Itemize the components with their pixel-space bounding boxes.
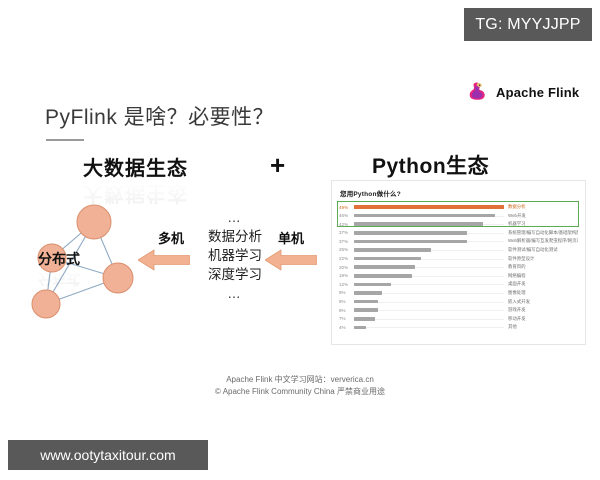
chart-row: 9%图像处理 [339,289,578,297]
list-item: 深度学习 [200,265,270,284]
chart-row-baseline [354,327,504,328]
chart-bar [354,291,382,295]
chart-row-track [354,272,504,280]
chart-row: 8%游戏开发 [339,306,578,314]
chart-bar [354,205,504,209]
chart-bar [354,326,366,330]
chart-row: 19%网络编程 [339,272,578,280]
tg-watermark-badge: TG: MYYJJPP [464,8,592,41]
cluster-node [103,263,133,293]
chart-row: 22%软件原型设计 [339,255,578,263]
chart-row: 37%系统管理/编写自动化脚本/基础架构配置（DevOps） [339,229,578,237]
chart-row-label: 游戏开发 [504,307,578,313]
chart-bar [354,231,467,235]
chart-bar [354,300,378,304]
chart-row: 4%其他 [339,323,578,331]
title-underline-rule [46,139,84,141]
apache-flink-squirrel-icon [466,80,490,104]
chart-row-track [354,229,504,237]
chart-row-value: 37% [339,230,354,235]
chart-row-track [354,220,504,228]
chart-row-label: 网络编程 [504,273,578,279]
chart-row-value: 8% [339,308,354,313]
chart-bar [354,240,467,244]
chart-row-label: Web解析器/编写互发爬虫程序/网页内容的取程序编程 [504,238,578,244]
chart-row-label: 图像处理 [504,290,578,296]
list-item: … [200,208,270,227]
chart-row-track [354,323,504,331]
chart-row-track [354,255,504,263]
chart-row-label: 桌面开发 [504,281,578,287]
apache-flink-wordmark: Apache Flink [496,85,579,100]
heading-python-text: Python生态 [372,155,489,178]
workload-list: … 数据分析 机器学习 深度学习 … [200,208,270,303]
footer-line-2: © Apache Flink Community China 严禁商业用途 [0,386,600,398]
chart-row-track [354,280,504,288]
chart-bar [354,265,415,269]
chart-bar [354,317,375,321]
chart-row-track [354,263,504,271]
chart-row-label: 移动开发 [504,316,578,322]
chart-row-track [354,306,504,314]
chart-title: 您用Python做什么? [340,188,578,198]
chart-row: 20%教育目的 [339,263,578,271]
chart-row-label: Web开发 [504,213,578,219]
chart-row-label: 软件原型设计 [504,256,578,262]
chart-row-value: 20% [339,265,354,270]
chart-row-value: 4% [339,325,354,330]
heading-big-data-text: 大数据生态 [83,158,188,180]
python-survey-chart: 您用Python做什么? 49%数据分析46%Web开发42%机器学习37%系统… [331,180,586,345]
chart-row-track [354,212,504,220]
chart-row-track [354,203,504,211]
chart-row-value: 7% [339,316,354,321]
chart-row-track [354,315,504,323]
chart-row-label: 系统管理/编写自动化脚本/基础架构配置（DevOps） [504,230,578,236]
apache-flink-logo: Apache Flink [466,80,579,104]
arrow-left-icon [138,249,190,276]
slide-canvas: TG: MYYJJPP Apache Flink PyFlink 是啥？必要性？… [0,0,600,480]
chart-bar [354,248,431,252]
cluster-node [32,290,60,318]
chart-bar [354,214,495,218]
arrow-right-icon [265,249,317,276]
chart-row: 7%移动开发 [339,315,578,323]
chart-row: 12%桌面开发 [339,280,578,288]
arrow-left-label: 多机 [158,228,184,247]
chart-row-value: 22% [339,256,354,261]
chart-bar [354,283,391,287]
chart-row-label: 数据分析 [504,204,578,210]
chart-row-value: 19% [339,273,354,278]
chart-row-track [354,289,504,297]
chart-row-track [354,298,504,306]
list-item: 数据分析 [200,227,270,246]
heading-python-ecosystem: Python生态 Python生态 [372,150,489,180]
chart-row-value: 37% [339,239,354,244]
cluster-label-text: 分布式 [38,251,80,267]
chart-row-label: 软件测试/编写自动化测试 [504,247,578,253]
chart-row-label: 嵌入式开发 [504,299,578,305]
chart-row-value: 42% [339,222,354,227]
heading-big-data-ecosystem: 大数据生态 大数据生态 [83,152,188,181]
site-watermark-badge: www.ootytaxitour.com [8,440,208,470]
chart-row-label: 教育目的 [504,264,578,270]
chart-row: 49%数据分析 [339,203,578,211]
chart-row: 37%Web解析器/编写互发爬虫程序/网页内容的取程序编程 [339,237,578,245]
chart-row-value: 8% [339,299,354,304]
chart-rows: 49%数据分析46%Web开发42%机器学习37%系统管理/编写自动化脚本/基础… [339,203,578,331]
chart-bar [354,274,412,278]
chart-row-value: 9% [339,290,354,295]
page-title: PyFlink 是啥？必要性？ [45,101,274,131]
cluster-label: 分布式 分布式 [38,249,80,269]
cluster-node [77,205,111,239]
chart-row: 25%软件测试/编写自动化测试 [339,246,578,254]
chart-row-track [354,237,504,245]
chart-row-baseline [354,319,504,320]
plus-symbol: + [270,150,285,181]
chart-bar [354,222,483,226]
chart-bar [354,257,421,261]
chart-row-value: 46% [339,213,354,218]
footer-line-1: Apache Flink 中文学习网站：ververica.cn [0,374,600,386]
chart-row-value: 25% [339,247,354,252]
list-item: … [200,284,270,303]
chart-row-value: 49% [339,205,354,210]
chart-bar [354,308,378,312]
arrow-right-label: 单机 [278,228,304,247]
chart-row: 8%嵌入式开发 [339,298,578,306]
footer-credits: Apache Flink 中文学习网站：ververica.cn © Apach… [0,374,600,398]
chart-row-track [354,246,504,254]
chart-row-label: 其他 [504,324,578,330]
chart-row-label: 机器学习 [504,221,578,227]
chart-row: 46%Web开发 [339,212,578,220]
chart-row: 42%机器学习 [339,220,578,228]
list-item: 机器学习 [200,246,270,265]
cluster-label-reflection: 分布式 [38,269,80,289]
chart-row-value: 12% [339,282,354,287]
